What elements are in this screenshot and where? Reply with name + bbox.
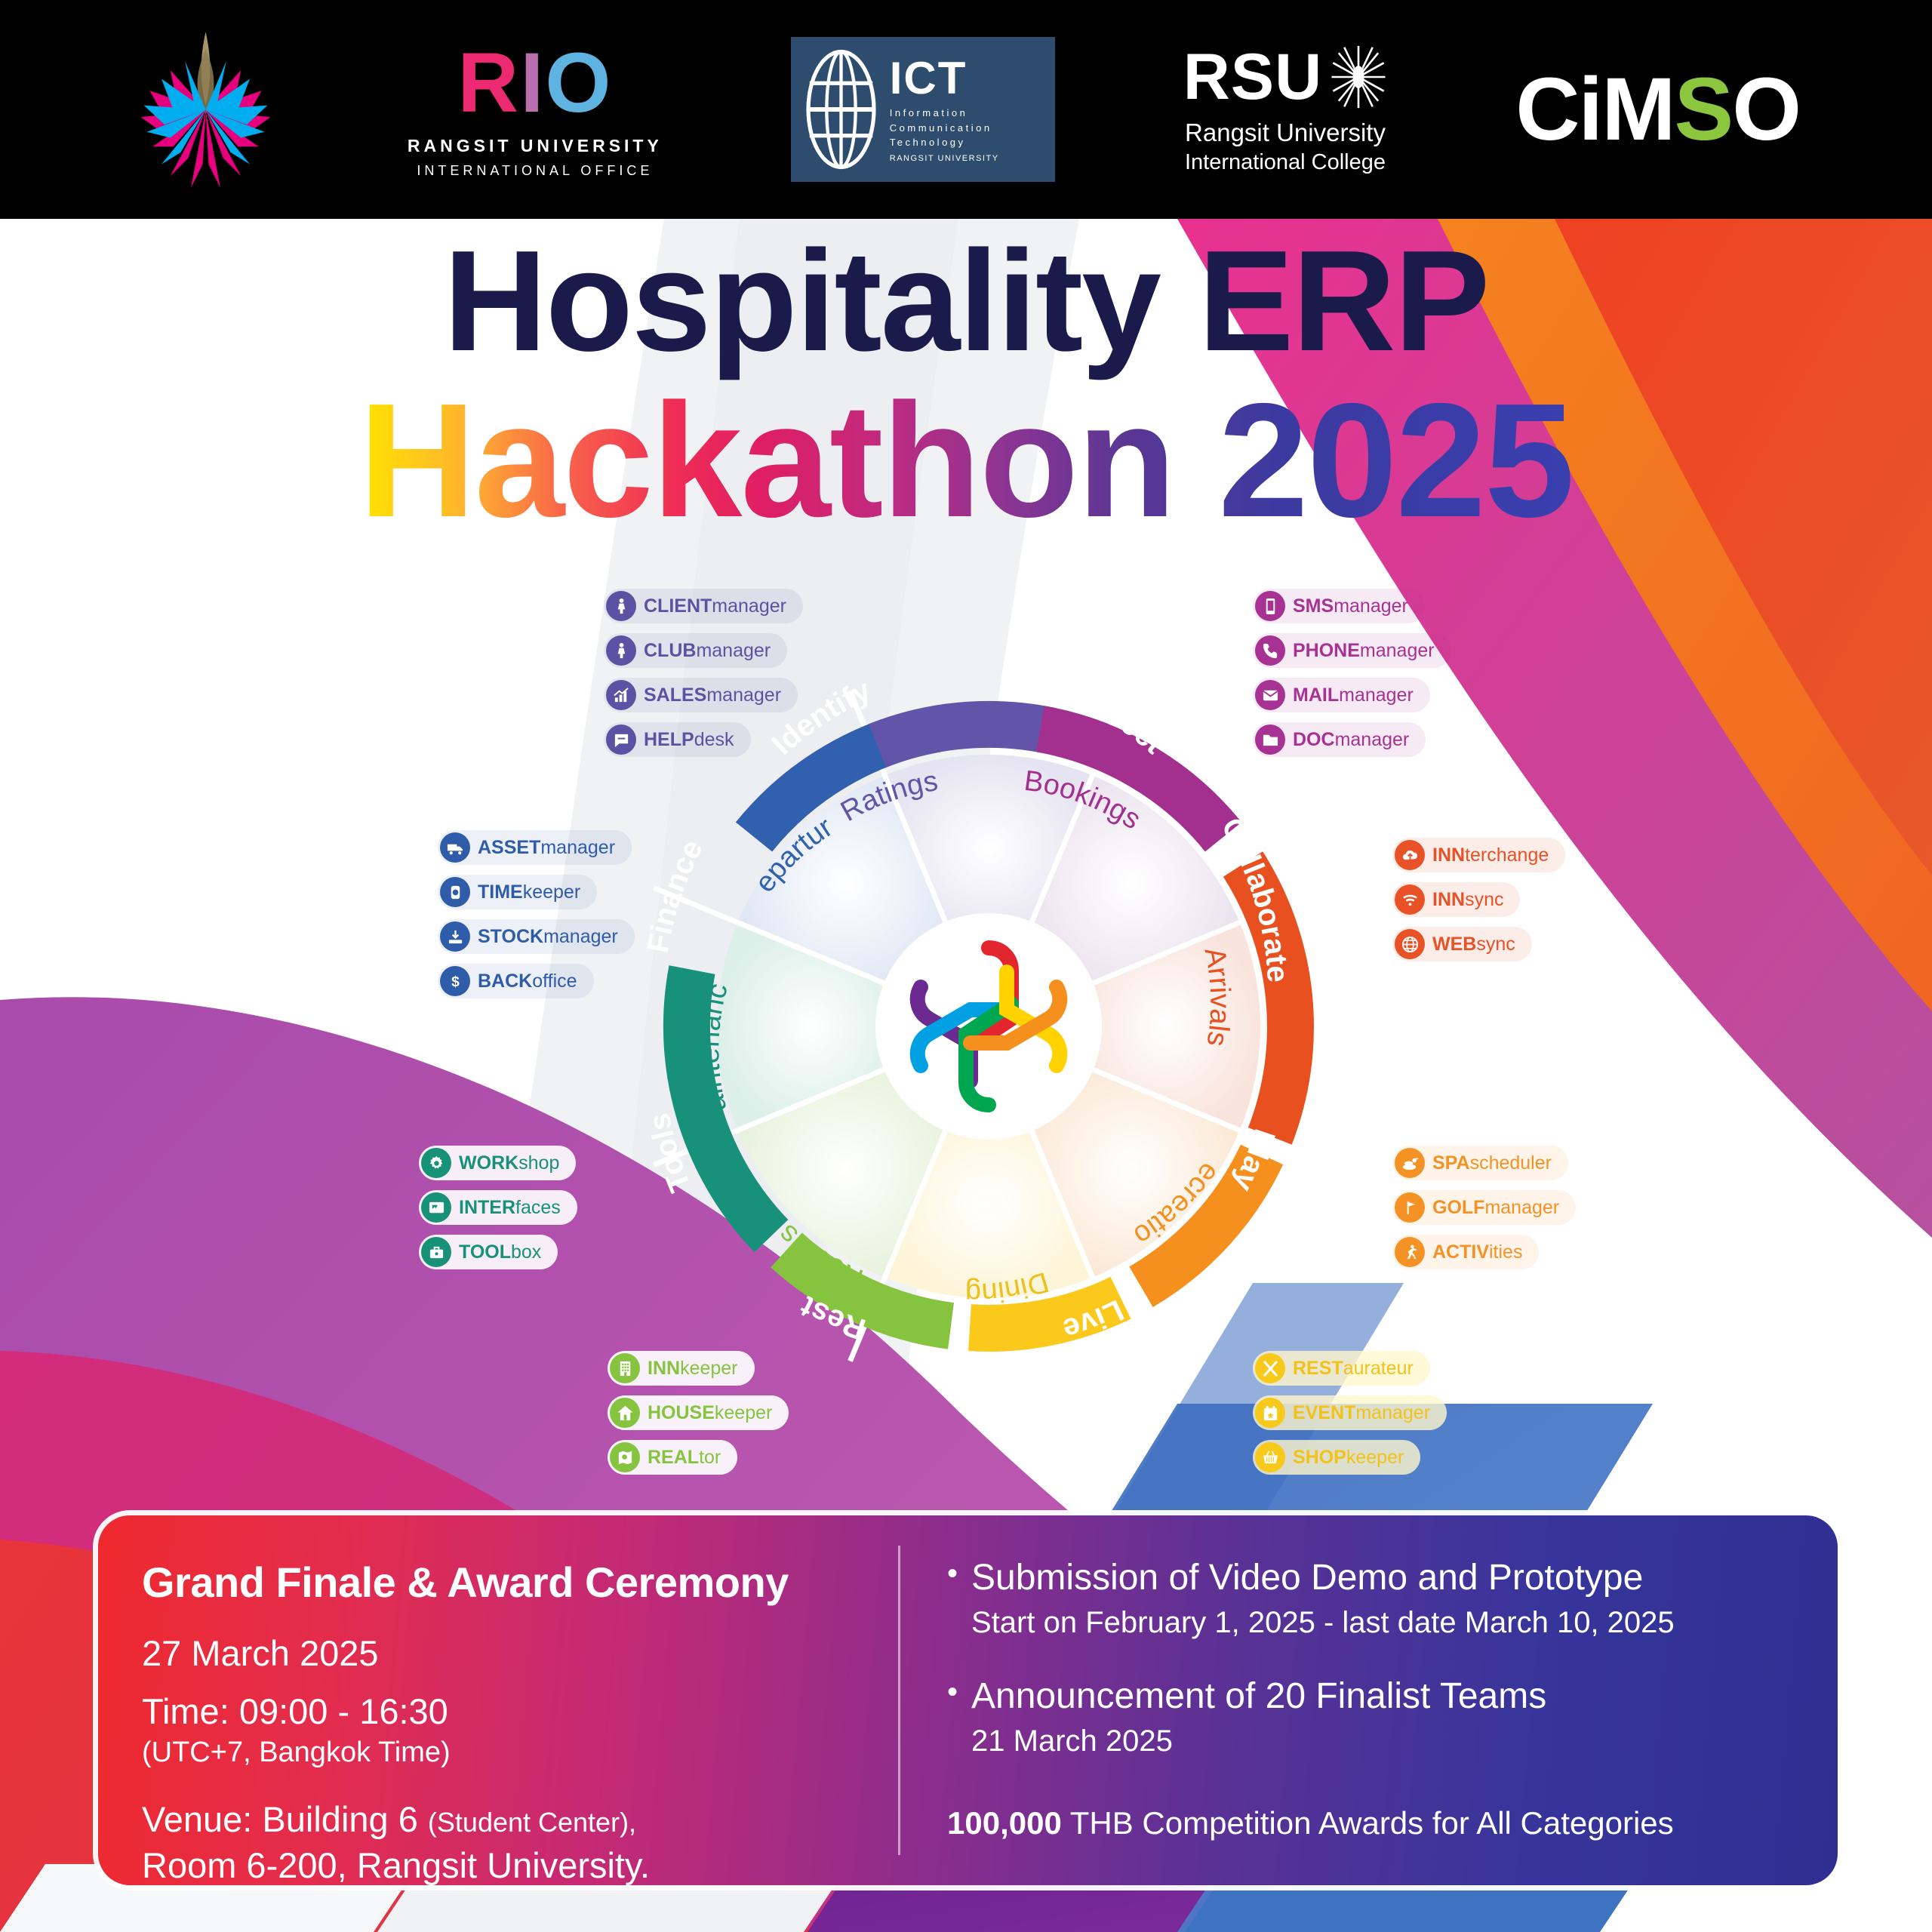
module-pill-label: DOCmanager <box>1293 729 1409 751</box>
cutlery-icon <box>1255 1353 1285 1383</box>
module-name-bold: BACK <box>478 971 532 992</box>
module-name-bold: HELP <box>644 729 694 750</box>
module-name-rest: keeper <box>680 1358 737 1379</box>
award-text: THB Competition Awards for All Categorie… <box>1062 1805 1674 1841</box>
cimso-logo: CiMSO <box>1515 65 1800 154</box>
module-group-finance: ASSETmanagerTIMEkeeperSTOCKmanager$BACKo… <box>438 830 635 998</box>
module-pill-assetmanager[interactable]: ASSETmanager <box>438 830 632 865</box>
chat-bubble-icon <box>606 724 636 755</box>
module-name-rest: manager <box>696 640 771 661</box>
cimso-wordmark: CiMSO <box>1515 65 1800 154</box>
module-pill-label: SPAscheduler <box>1432 1152 1552 1174</box>
module-pill-restaurateur[interactable]: RESTaurateur <box>1253 1351 1430 1386</box>
shopping-basket-icon <box>1255 1442 1285 1472</box>
module-name-bold: TIME <box>478 881 523 903</box>
module-pill-label: EVENTmanager <box>1293 1402 1430 1424</box>
rio-logo: RIO RANGSIT UNIVERSITY INTERNATIONAL OFF… <box>408 41 663 179</box>
module-name-rest: sync <box>1465 889 1503 910</box>
module-pill-label: INNkeeper <box>648 1358 738 1380</box>
module-name-rest: sync <box>1476 934 1515 955</box>
module-pill-clientmanager[interactable]: CLIENTmanager <box>604 589 803 623</box>
module-pill-clubmanager[interactable]: CLUBmanager <box>604 633 787 668</box>
module-name-bold: GOLF <box>1432 1197 1484 1218</box>
spa-stones-icon <box>1395 1148 1425 1178</box>
rio-sub2: INTERNATIONAL OFFICE <box>417 163 653 179</box>
module-group-play: SPAschedulerGOLFmanagerACTIVities <box>1392 1146 1576 1269</box>
grand-finale-panel: Grand Finale & Award Ceremony 27 March 2… <box>98 1515 898 1885</box>
person-icon <box>606 591 636 621</box>
mobile-phone-icon <box>1255 591 1285 621</box>
module-pill-label: GOLFmanager <box>1432 1197 1559 1219</box>
module-pill-activities[interactable]: ACTIVities <box>1392 1235 1539 1269</box>
ict-lines: Information Communication Technology <box>890 106 999 150</box>
module-pill-stockmanager[interactable]: STOCKmanager <box>438 919 635 954</box>
phone-call-icon <box>1255 635 1285 666</box>
module-name-rest: shop <box>518 1152 559 1174</box>
module-pill-docmanager[interactable]: DOCmanager <box>1253 722 1426 757</box>
module-pill-innkeeper[interactable]: INNkeeper <box>608 1351 755 1386</box>
module-name-bold: CLIENT <box>644 595 712 617</box>
module-pill-helpdesk[interactable]: HELPdesk <box>604 722 751 757</box>
module-name-rest: scheduler <box>1470 1152 1552 1174</box>
module-pill-timekeeper[interactable]: TIMEkeeper <box>438 875 597 909</box>
module-pill-label: HELPdesk <box>644 729 734 751</box>
module-name-rest: manager <box>1484 1197 1559 1218</box>
ict-logo: ICT Information Communication Technology… <box>791 37 1055 182</box>
module-pill-eventmanager[interactable]: EVENTmanager <box>1253 1395 1447 1430</box>
module-pill-innsync[interactable]: INNsync <box>1392 882 1520 917</box>
module-group-identify: CLIENTmanagerCLUBmanagerSALESmanagerHELP… <box>604 589 803 757</box>
module-name-bold: DOC <box>1293 729 1335 750</box>
module-group-tools: WORKshopINTERfacesTOOLbox <box>419 1146 577 1269</box>
module-pill-label: INNterchange <box>1432 844 1549 866</box>
module-name-rest: faces <box>515 1197 561 1218</box>
module-name-bold: INN <box>648 1358 680 1379</box>
module-pill-housekeeper[interactable]: HOUSEkeeper <box>608 1395 789 1430</box>
module-name-rest: manager <box>543 926 618 947</box>
module-pill-shopkeeper[interactable]: SHOPkeeper <box>1253 1440 1420 1475</box>
rsu-sub2: International College <box>1185 150 1386 175</box>
title-line-2: Hackathon 2025 <box>358 377 1573 543</box>
module-name-bold: INTER <box>459 1197 515 1218</box>
event-timezone: (UTC+7, Bangkok Time) <box>142 1737 898 1769</box>
milestones-panel: • Submission of Video Demo and Prototype… <box>900 1515 1838 1885</box>
venue-line2: Room 6-200, Rangsit University. <box>142 1845 650 1885</box>
module-name-bold: ACTIV <box>1432 1241 1489 1263</box>
module-pill-label: SALESmanager <box>644 685 781 706</box>
rsu-emblem-logo <box>132 29 279 191</box>
event-date: 27 March 2025 <box>142 1632 898 1674</box>
module-pill-label: STOCKmanager <box>478 926 618 948</box>
module-pill-label: WEBsync <box>1432 934 1515 955</box>
info-panels: Grand Finale & Award Ceremony 27 March 2… <box>98 1515 1838 1885</box>
module-name-bold: INN <box>1432 844 1465 866</box>
module-name-rest: manager <box>1355 1402 1430 1423</box>
module-pill-label: CLIENTmanager <box>644 595 786 617</box>
building-icon <box>610 1353 640 1383</box>
event-venue: Venue: Building 6 (Student Center), Room… <box>142 1796 898 1888</box>
calendar-star-icon <box>1255 1398 1285 1428</box>
module-pill-label: TIMEkeeper <box>478 881 580 903</box>
module-pill-toolbox[interactable]: TOOLbox <box>419 1235 558 1269</box>
module-pill-phonemanager[interactable]: PHONEmanager <box>1253 633 1451 668</box>
module-pill-label: TOOLbox <box>459 1241 541 1263</box>
module-pill-label: CLUBmanager <box>644 640 771 662</box>
module-pill-mailmanager[interactable]: MAILmanager <box>1253 678 1430 712</box>
module-name-rest: keeper <box>715 1402 772 1423</box>
module-group-connect: SMSmanagerPHONEmanagerMAILmanagerDOCmana… <box>1253 589 1451 757</box>
sponsor-logo-bar: RIO RANGSIT UNIVERSITY INTERNATIONAL OFF… <box>0 0 1932 219</box>
module-name-rest: manager <box>706 685 781 706</box>
module-name-bold: SPA <box>1432 1152 1470 1174</box>
ict-line-2: Technology <box>890 135 999 150</box>
bullet-dot-icon: • <box>947 1558 958 1640</box>
person-icon <box>606 635 636 666</box>
module-name-bold: TOOL <box>459 1241 511 1263</box>
ict-university: RANGSIT UNIVERSITY <box>890 154 999 163</box>
module-name-bold: STOCK <box>478 926 543 947</box>
module-pill-websync[interactable]: WEBsync <box>1392 927 1532 961</box>
bar-chart-icon <box>606 680 636 710</box>
wifi-icon <box>1395 884 1425 915</box>
event-time: Time: 09:00 - 16:30 <box>142 1690 898 1732</box>
milestone-0-sub: Start on February 1, 2025 - last date Ma… <box>971 1606 1675 1640</box>
module-name-bold: HOUSE <box>648 1402 715 1423</box>
module-name-rest: tor <box>699 1447 721 1468</box>
milestone-item: • Submission of Video Demo and Prototype… <box>947 1558 1792 1640</box>
module-pill-label: SHOPkeeper <box>1293 1447 1404 1469</box>
module-name-rest: desk <box>694 729 734 750</box>
map-pin-icon <box>610 1442 640 1472</box>
cloud-upload-icon <box>1395 840 1425 870</box>
module-pill-salesmanager[interactable]: SALESmanager <box>604 678 798 712</box>
module-name-bold: SMS <box>1293 595 1334 617</box>
module-pill-label: REALtor <box>648 1447 721 1469</box>
folder-icon <box>1255 724 1285 755</box>
module-name-rest: manager <box>1334 595 1408 617</box>
module-pill-label: HOUSEkeeper <box>648 1402 772 1424</box>
module-name-bold: INN <box>1432 889 1465 910</box>
module-pill-spascheduler[interactable]: SPAscheduler <box>1392 1146 1568 1180</box>
module-name-rest: manager <box>1360 640 1435 661</box>
home-icon <box>610 1398 640 1428</box>
venue-main: Venue: Building 6 <box>142 1799 428 1839</box>
envelope-icon <box>1255 680 1285 710</box>
svg-text:$: $ <box>451 974 460 990</box>
rsu-sub1: Rangsit University <box>1185 118 1386 147</box>
venue-paren: (Student Center), <box>428 1807 636 1838</box>
wheel-label-finance: Finance <box>641 835 709 955</box>
poster-root: RIO RANGSIT UNIVERSITY INTERNATIONAL OFF… <box>0 0 1932 1932</box>
rsu-letters: RSU <box>1183 45 1323 109</box>
module-name-bold: WORK <box>459 1152 518 1174</box>
module-name-rest: terchange <box>1465 844 1549 866</box>
module-name-rest: keeper <box>523 881 580 903</box>
module-name-bold: REST <box>1293 1358 1343 1379</box>
golf-flag-icon <box>1395 1192 1425 1223</box>
module-pill-label: INTERfaces <box>459 1197 561 1219</box>
module-pill-label: MAILmanager <box>1293 685 1414 706</box>
grand-finale-title: Grand Finale & Award Ceremony <box>142 1558 898 1607</box>
rio-sub1: RANGSIT UNIVERSITY <box>408 136 663 156</box>
milestone-item: • Announcement of 20 Finalist Teams 21 M… <box>947 1676 1792 1758</box>
module-pill-label: WORKshop <box>459 1152 559 1174</box>
module-pill-label: ASSETmanager <box>478 837 615 859</box>
milestone-0-head: Submission of Video Demo and Prototype <box>971 1558 1675 1598</box>
module-pill-backoffice[interactable]: $BACKoffice <box>438 964 594 998</box>
module-name-rest: office <box>532 971 577 992</box>
milestone-1-head: Announcement of 20 Finalist Teams <box>971 1676 1546 1717</box>
module-name-bold: SALES <box>644 685 706 706</box>
module-name-rest: manager <box>1339 685 1414 706</box>
module-name-bold: CLUB <box>644 640 696 661</box>
ict-line-1: Communication <box>890 121 999 136</box>
module-name-bold: SHOP <box>1293 1447 1346 1468</box>
module-group-live: RESTaurateurEVENTmanagerSHOPkeeper <box>1253 1351 1447 1475</box>
rsu-emblem-icon <box>132 29 279 191</box>
module-pill-realtor[interactable]: REALtor <box>608 1440 737 1475</box>
milestone-1-sub: 21 March 2025 <box>971 1724 1546 1758</box>
module-pill-label: RESTaurateur <box>1293 1358 1414 1380</box>
module-name-rest: box <box>511 1241 541 1263</box>
ict-wordmark: ICT <box>890 56 999 101</box>
module-pill-label: BACKoffice <box>478 971 577 992</box>
rio-wordmark: RIO <box>457 41 612 125</box>
page-title: Hospitality ERP Hackathon 2025 <box>0 226 1932 543</box>
module-pill-innterchange[interactable]: INNterchange <box>1392 838 1565 872</box>
module-pill-label: ACTIVities <box>1432 1241 1522 1263</box>
award-amount-line: 100,000 THB Competition Awards for All C… <box>947 1805 1792 1841</box>
module-name-bold: REAL <box>648 1447 699 1468</box>
module-pill-smsmanager[interactable]: SMSmanager <box>1253 589 1425 623</box>
module-name-bold: WEB <box>1432 934 1476 955</box>
globe-icon <box>1395 929 1425 959</box>
module-name-rest: aurateur <box>1343 1358 1414 1379</box>
module-pill-interfaces[interactable]: INTERfaces <box>419 1190 577 1225</box>
gear-icon <box>421 1148 451 1178</box>
ict-line-0: Information <box>890 106 999 121</box>
dollar-icon: $ <box>440 966 470 996</box>
module-pill-label: INNsync <box>1432 889 1503 911</box>
toolbox-icon <box>421 1237 451 1267</box>
globe-icon <box>801 49 881 170</box>
module-name-bold: EVENT <box>1293 1402 1355 1423</box>
module-pill-golfmanager[interactable]: GOLFmanager <box>1392 1190 1576 1225</box>
module-pill-label: SMSmanager <box>1293 595 1408 617</box>
module-name-rest: manager <box>1335 729 1410 750</box>
stopwatch-icon <box>440 877 470 907</box>
module-name-rest: manager <box>540 837 615 858</box>
module-name-bold: ASSET <box>478 837 540 858</box>
module-name-bold: PHONE <box>1293 640 1360 661</box>
module-group-rest: INNkeeperHOUSEkeeperREALtor <box>608 1351 789 1475</box>
module-pill-label: PHONEmanager <box>1293 640 1435 662</box>
module-name-rest: manager <box>712 595 786 617</box>
rsu-international-college-logo: RSU Rangsit University International Col… <box>1183 45 1388 175</box>
module-name-bold: MAIL <box>1293 685 1339 706</box>
runner-icon <box>1395 1237 1425 1267</box>
module-name-rest: keeper <box>1346 1447 1404 1468</box>
title-line-1: Hospitality ERP <box>0 226 1932 377</box>
module-group-collaborate: INNterchangeINNsyncWEBsync <box>1392 838 1565 961</box>
module-pill-workshop[interactable]: WORKshop <box>419 1146 576 1180</box>
screen-icon <box>421 1192 451 1223</box>
bullet-dot-icon: • <box>947 1676 958 1758</box>
award-amount: 100,000 <box>947 1805 1062 1841</box>
download-box-icon <box>440 921 470 952</box>
truck-icon <box>440 832 470 863</box>
module-name-rest: ities <box>1489 1241 1522 1263</box>
rsu-starburst-icon <box>1330 45 1387 109</box>
